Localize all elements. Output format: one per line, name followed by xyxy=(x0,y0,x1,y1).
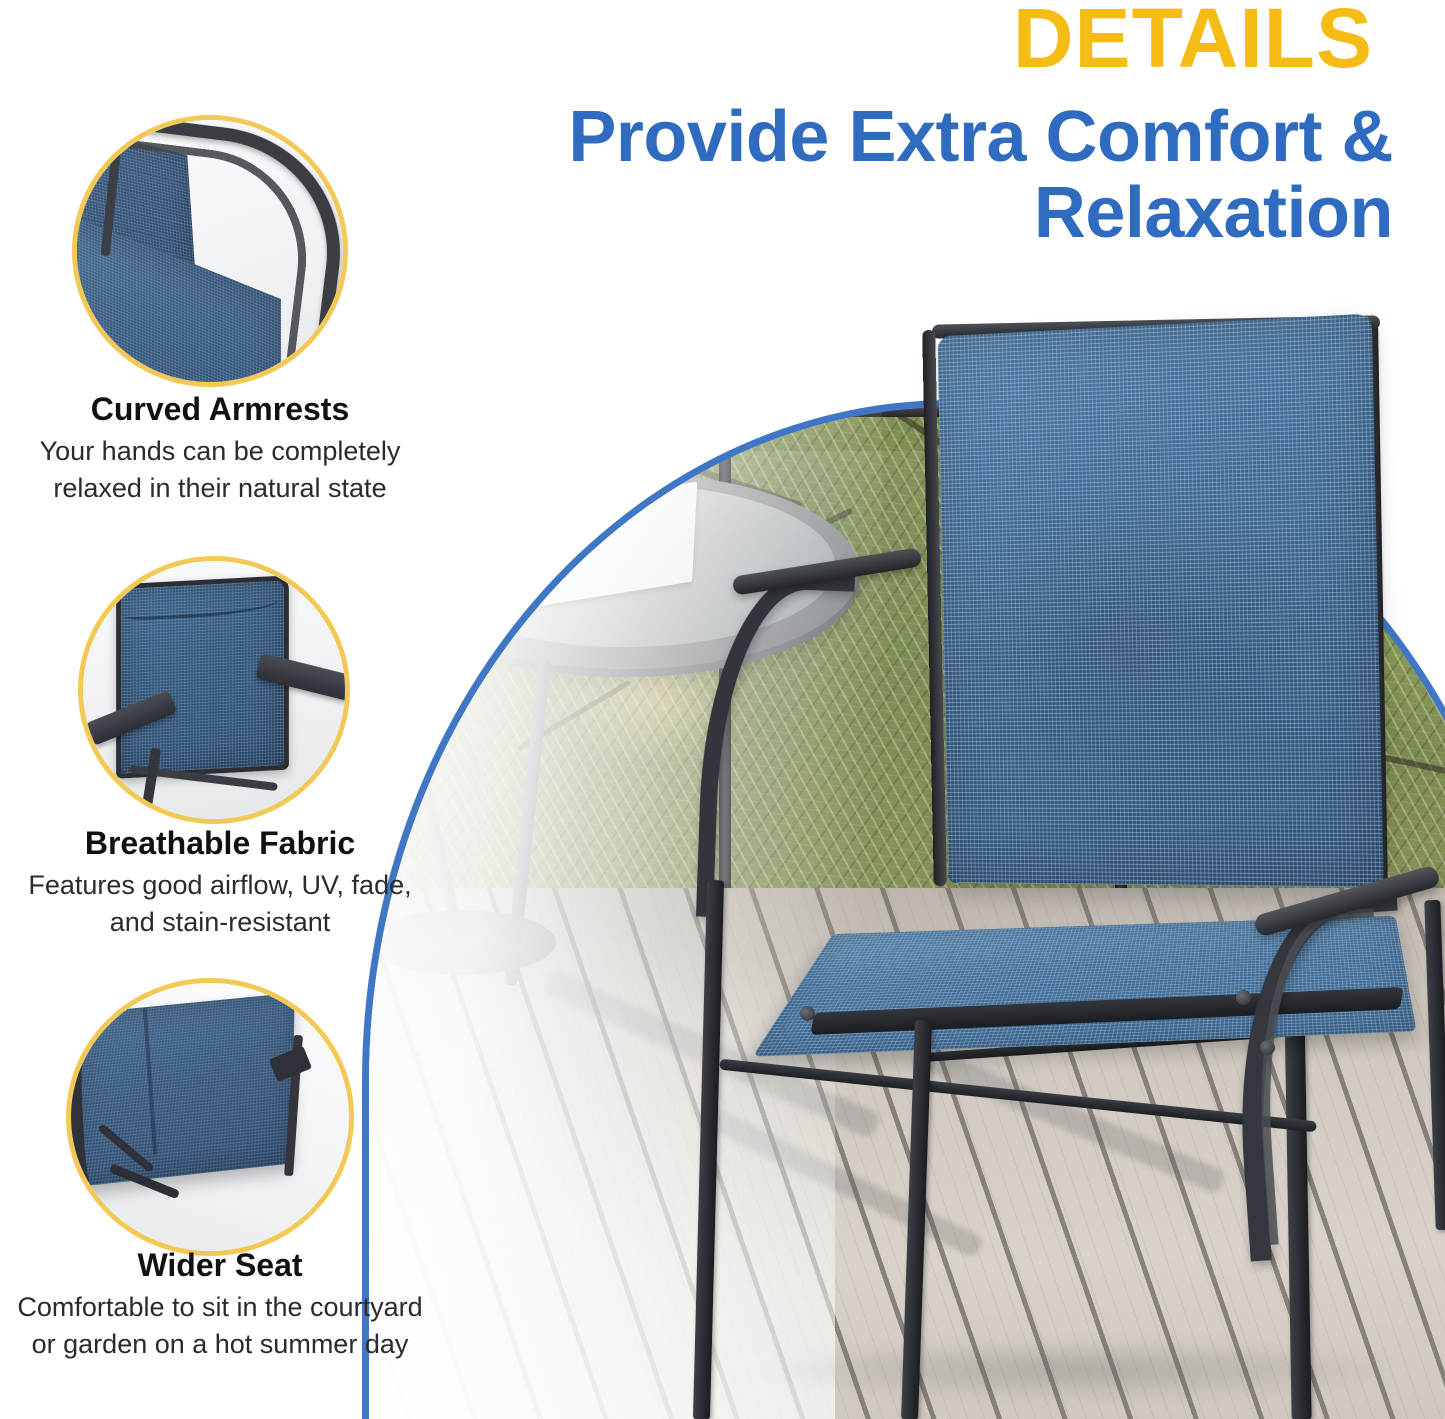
feature-desc-line-2: or garden on a hot summer day xyxy=(0,1326,440,1362)
chair-armrest-left-curve xyxy=(696,570,855,922)
feature-title: Breathable Fabric xyxy=(0,826,440,861)
callout-fabric-closeup xyxy=(78,556,350,824)
chair-support-rung xyxy=(719,1059,1317,1133)
feature-wider-seat: Wider Seat Comfortable to sit in the cou… xyxy=(0,1248,440,1362)
headline-line-1: Provide Extra Comfort & xyxy=(293,100,1393,176)
chair-leg-back-right xyxy=(1424,900,1445,1230)
page-eyebrow-title: DETAILS xyxy=(1013,0,1373,80)
feature-desc-line-2: and stain-resistant xyxy=(0,904,440,940)
callout-seat-closeup xyxy=(66,978,354,1256)
feature-desc-line-1: Features good airflow, UV, fade, xyxy=(0,867,440,903)
callout-armrest-closeup xyxy=(72,115,348,387)
chair-backrest-sling-fabric xyxy=(937,313,1383,887)
page-headline: Provide Extra Comfort & Relaxation xyxy=(293,100,1393,251)
feature-desc-line-1: Comfortable to sit in the courtyard xyxy=(0,1289,440,1325)
feature-desc-line-2: relaxed in their natural state xyxy=(0,470,440,506)
patio-chair-product xyxy=(640,300,1445,1419)
feature-breathable-fabric: Breathable Fabric Features good airflow,… xyxy=(0,826,440,940)
feature-curved-armrests: Curved Armrests Your hands can be comple… xyxy=(0,392,440,506)
headline-line-2: Relaxation xyxy=(293,176,1393,252)
feature-desc-line-1: Your hands can be completely xyxy=(0,433,440,469)
feature-title: Curved Armrests xyxy=(0,392,440,427)
feature-title: Wider Seat xyxy=(0,1248,440,1283)
chair-leg-front-left xyxy=(693,880,724,1419)
detail-page-canvas: DETAILS Provide Extra Comfort & Relaxati… xyxy=(0,0,1445,1419)
